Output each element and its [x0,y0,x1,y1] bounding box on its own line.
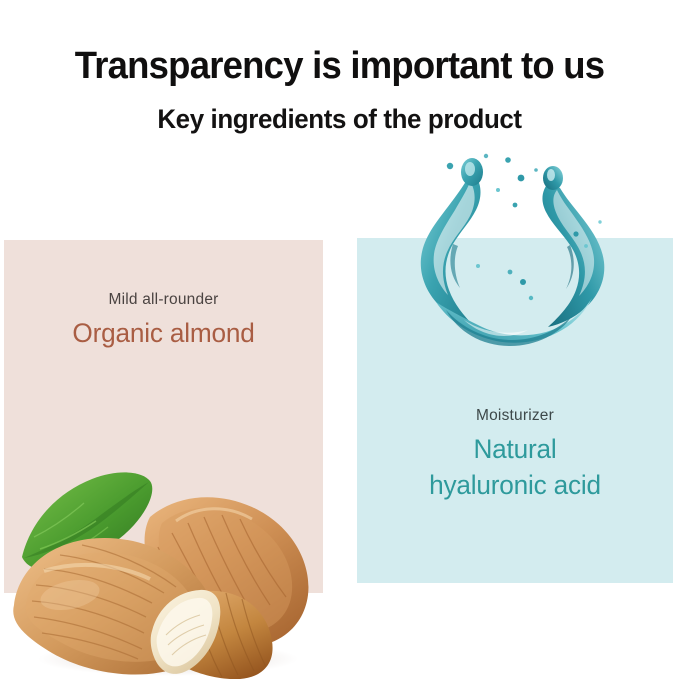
page-subtitle: Key ingredients of the product [14,104,666,134]
heading-block: Transparency is important to us Key ingr… [0,0,679,134]
almond-kicker-label: Mild all-rounder [4,290,323,310]
almond-name-label: Organic almond [9,315,318,351]
ingredients-infographic: Transparency is important to us Key ingr… [0,0,679,679]
page-title: Transparency is important to us [14,45,666,87]
almond-caption: Mild all-rounder Organic almond [4,290,323,351]
hyaluronic-name-line1: Natural [362,431,669,467]
hyaluronic-kicker-label: Moisturizer [357,406,673,426]
almonds-icon [0,445,345,679]
water-splash-icon [390,148,635,353]
hyaluronic-caption: Moisturizer Natural hyaluronic acid [357,406,673,503]
hyaluronic-name-line2: hyaluronic acid [362,467,669,503]
